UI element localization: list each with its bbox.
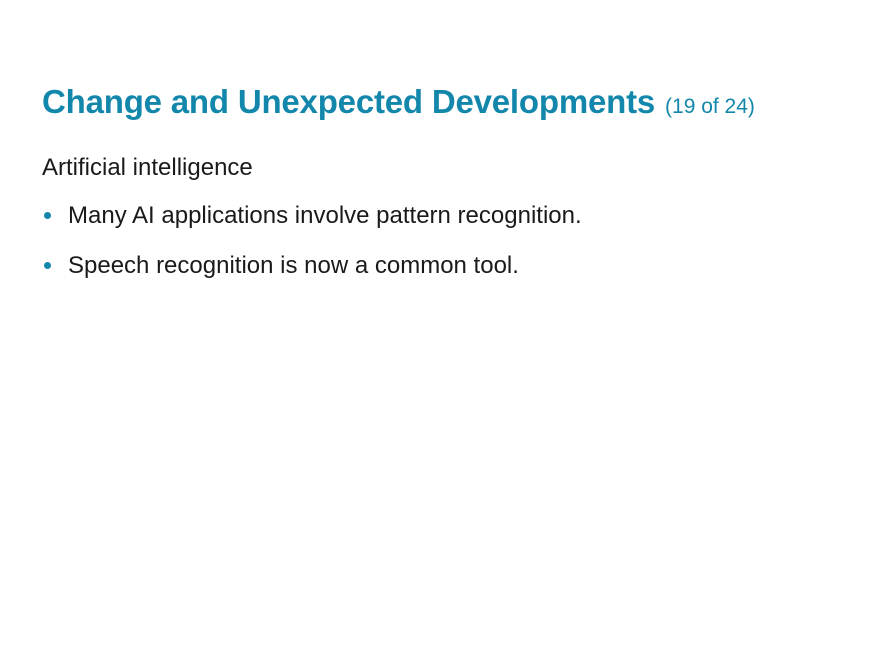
list-item-label: Speech recognition is now a common tool. [68,252,519,279]
slide-title: Change and Unexpected Developments (19 o… [42,84,856,120]
bullet-dot-icon [44,212,51,219]
slide-canvas: Change and Unexpected Developments (19 o… [0,0,880,660]
page-title: Change and Unexpected Developments [42,84,655,120]
page-counter: (19 of 24) [665,95,755,118]
list-item-label: Many AI applications involve pattern rec… [68,202,582,229]
bullet-dot-icon [44,262,51,269]
list-item: Speech recognition is now a common tool. [42,250,856,282]
slide-body: Artificial intelligence Many AI applicat… [42,152,856,301]
list-item: Many AI applications involve pattern rec… [42,200,856,232]
body-lead-line: Artificial intelligence [42,152,856,184]
bullet-list: Many AI applications involve pattern rec… [42,200,856,282]
